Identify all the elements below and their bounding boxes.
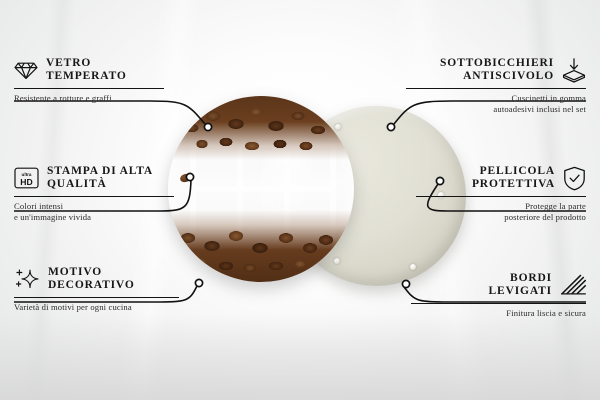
feature-divider <box>411 303 586 304</box>
diamond-icon <box>14 60 38 80</box>
feature-motivo-decorativo: MOTIVO DECORATIVO Varietà di motivi per … <box>14 266 179 313</box>
feature-divider <box>14 88 164 89</box>
feature-title-line-1: PELLICOLA <box>472 165 555 178</box>
feature-divider <box>14 196 174 197</box>
feature-title-line-1: VETRO <box>46 57 127 70</box>
feature-title-line-1: BORDI <box>489 272 552 285</box>
infographic-stage: VETRO TEMPERATO Resistente a rotture e g… <box>0 0 600 400</box>
coffee-beans-top <box>168 96 354 160</box>
feature-divider <box>416 196 586 197</box>
rubber-pad <box>410 264 416 270</box>
feature-stampa-di-alta-qualita: ultra HD STAMPA DI ALTA QUALITÀ Colori i… <box>14 165 174 223</box>
smooth-edges-icon <box>560 274 586 296</box>
feature-subtitle: Protegge la parte posteriore del prodott… <box>416 201 586 223</box>
feature-subtitle-line-1: Cuscinetti in gomma <box>406 93 586 104</box>
ultra-hd-badge-icon: ultra HD <box>14 167 39 189</box>
feature-title-line-2: PROTETTIVA <box>472 178 555 191</box>
feature-title: STAMPA DI ALTA QUALITÀ <box>47 165 153 192</box>
feature-title-line-1: SOTTOBICCHIERI <box>440 57 554 70</box>
feature-subtitle-line-2: e un'immagine vivida <box>14 212 174 223</box>
feature-subtitle-line-2: autoadesivi inclusi nel set <box>406 104 586 115</box>
feature-title-line-2: LEVIGATI <box>489 285 552 298</box>
feature-title-line-2: TEMPERATO <box>46 70 127 83</box>
feature-title-line-1: MOTIVO <box>48 266 135 279</box>
feature-header: BORDI LEVIGATI <box>411 272 586 299</box>
feature-title-line-2: QUALITÀ <box>47 178 153 191</box>
feature-header: VETRO TEMPERATO <box>14 57 164 84</box>
floor-shadow <box>0 314 600 400</box>
svg-text:HD: HD <box>20 177 32 187</box>
feature-sottobicchieri-antiscivolo: SOTTOBICCHIERI ANTISCIVOLO Cuscinetti in… <box>406 57 586 115</box>
feature-title-line-2: DECORATIVO <box>48 279 135 292</box>
feature-title: MOTIVO DECORATIVO <box>48 266 135 293</box>
feature-title-line-2: ANTISCIVOLO <box>440 70 554 83</box>
product-front-disc <box>168 96 354 282</box>
feature-header: MOTIVO DECORATIVO <box>14 266 179 293</box>
feature-subtitle: Varietà di motivi per ogni cucina <box>14 302 179 313</box>
feature-bordi-levigati: BORDI LEVIGATI Finitura liscia e sicura <box>411 272 586 319</box>
arrow-down-pad-icon <box>562 57 586 83</box>
feature-divider <box>14 297 179 298</box>
feature-title: SOTTOBICCHIERI ANTISCIVOLO <box>440 57 554 84</box>
feature-header: ultra HD STAMPA DI ALTA QUALITÀ <box>14 165 174 192</box>
feature-pellicola-protettiva: PELLICOLA PROTETTIVA Protegge la parte p… <box>416 165 586 223</box>
feature-vetro-temperato: VETRO TEMPERATO Resistente a rotture e g… <box>14 57 164 104</box>
product-image <box>168 96 438 296</box>
feature-divider <box>406 88 586 89</box>
feature-subtitle: Cuscinetti in gomma autoadesivi inclusi … <box>406 93 586 115</box>
feature-subtitle: Colori intensi e un'immagine vivida <box>14 201 174 223</box>
feature-subtitle-line-2: posteriore del prodotto <box>416 212 586 223</box>
feature-subtitle: Finitura liscia e sicura <box>411 308 586 319</box>
shield-check-icon <box>563 166 586 191</box>
feature-header: PELLICOLA PROTETTIVA <box>416 165 586 192</box>
feature-subtitle-line-1: Colori intensi <box>14 201 174 212</box>
feature-title: PELLICOLA PROTETTIVA <box>472 165 555 192</box>
sparkle-icon <box>14 268 40 290</box>
feature-title: BORDI LEVIGATI <box>489 272 552 299</box>
feature-subtitle: Resistente a rotture e graffi <box>14 93 164 104</box>
feature-title: VETRO TEMPERATO <box>46 57 127 84</box>
feature-title-line-1: STAMPA DI ALTA <box>47 165 153 178</box>
coffee-beans-bottom <box>168 210 354 282</box>
feature-subtitle-line-1: Protegge la parte <box>416 201 586 212</box>
feature-header: SOTTOBICCHIERI ANTISCIVOLO <box>406 57 586 84</box>
